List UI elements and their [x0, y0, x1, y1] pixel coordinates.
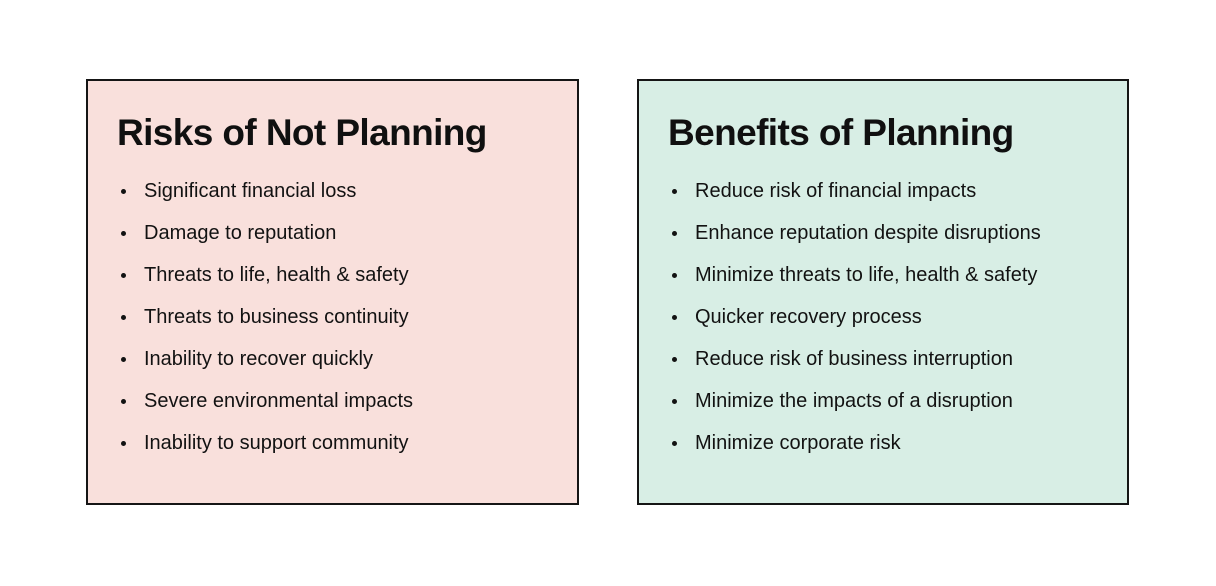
- bullet-icon: [121, 315, 126, 320]
- list-item-label: Quicker recovery process: [695, 306, 922, 328]
- list-item: Inability to recover quickly: [119, 348, 577, 370]
- list-item: Threats to business continuity: [119, 306, 577, 328]
- bullet-icon: [672, 399, 677, 404]
- list-item-label: Threats to life, health & safety: [144, 264, 409, 286]
- list-item: Severe environmental impacts: [119, 390, 577, 412]
- panel-benefits: Benefits of Planning Reduce risk of fina…: [637, 79, 1129, 505]
- bullet-icon: [672, 231, 677, 236]
- list-item-label: Severe environmental impacts: [144, 390, 413, 412]
- list-item: Enhance reputation despite disruptions: [670, 222, 1127, 244]
- comparison-board: Risks of Not Planning Significant financ…: [0, 0, 1216, 586]
- list-item-label: Threats to business continuity: [144, 306, 409, 328]
- bullet-icon: [672, 189, 677, 194]
- bullet-icon: [121, 273, 126, 278]
- list-item-label: Inability to support community: [144, 432, 409, 454]
- bullet-icon: [121, 357, 126, 362]
- list-item: Reduce risk of financial impacts: [670, 180, 1127, 202]
- list-item: Threats to life, health & safety: [119, 264, 577, 286]
- list-item-label: Minimize the impacts of a disruption: [695, 390, 1013, 412]
- list-item: Minimize the impacts of a disruption: [670, 390, 1127, 412]
- list-item-label: Reduce risk of business interruption: [695, 348, 1013, 370]
- bullet-icon: [672, 441, 677, 446]
- list-item: Minimize corporate risk: [670, 432, 1127, 454]
- list-item-label: Reduce risk of financial impacts: [695, 180, 976, 202]
- panel-risks-list: Significant financial loss Damage to rep…: [88, 153, 577, 454]
- panel-risks: Risks of Not Planning Significant financ…: [86, 79, 579, 505]
- list-item: Significant financial loss: [119, 180, 577, 202]
- list-item: Inability to support community: [119, 432, 577, 454]
- list-item-label: Minimize corporate risk: [695, 432, 901, 454]
- bullet-icon: [121, 231, 126, 236]
- bullet-icon: [672, 315, 677, 320]
- list-item-label: Minimize threats to life, health & safet…: [695, 264, 1037, 286]
- list-item-label: Significant financial loss: [144, 180, 356, 202]
- bullet-icon: [121, 189, 126, 194]
- list-item-label: Damage to reputation: [144, 222, 336, 244]
- panel-benefits-list: Reduce risk of financial impacts Enhance…: [639, 153, 1127, 454]
- list-item: Damage to reputation: [119, 222, 577, 244]
- bullet-icon: [121, 441, 126, 446]
- bullet-icon: [121, 399, 126, 404]
- list-item: Minimize threats to life, health & safet…: [670, 264, 1127, 286]
- list-item-label: Enhance reputation despite disruptions: [695, 222, 1041, 244]
- list-item-label: Inability to recover quickly: [144, 348, 373, 370]
- list-item: Quicker recovery process: [670, 306, 1127, 328]
- panel-risks-title: Risks of Not Planning: [88, 81, 577, 153]
- bullet-icon: [672, 357, 677, 362]
- list-item: Reduce risk of business interruption: [670, 348, 1127, 370]
- panel-benefits-title: Benefits of Planning: [639, 81, 1127, 153]
- bullet-icon: [672, 273, 677, 278]
